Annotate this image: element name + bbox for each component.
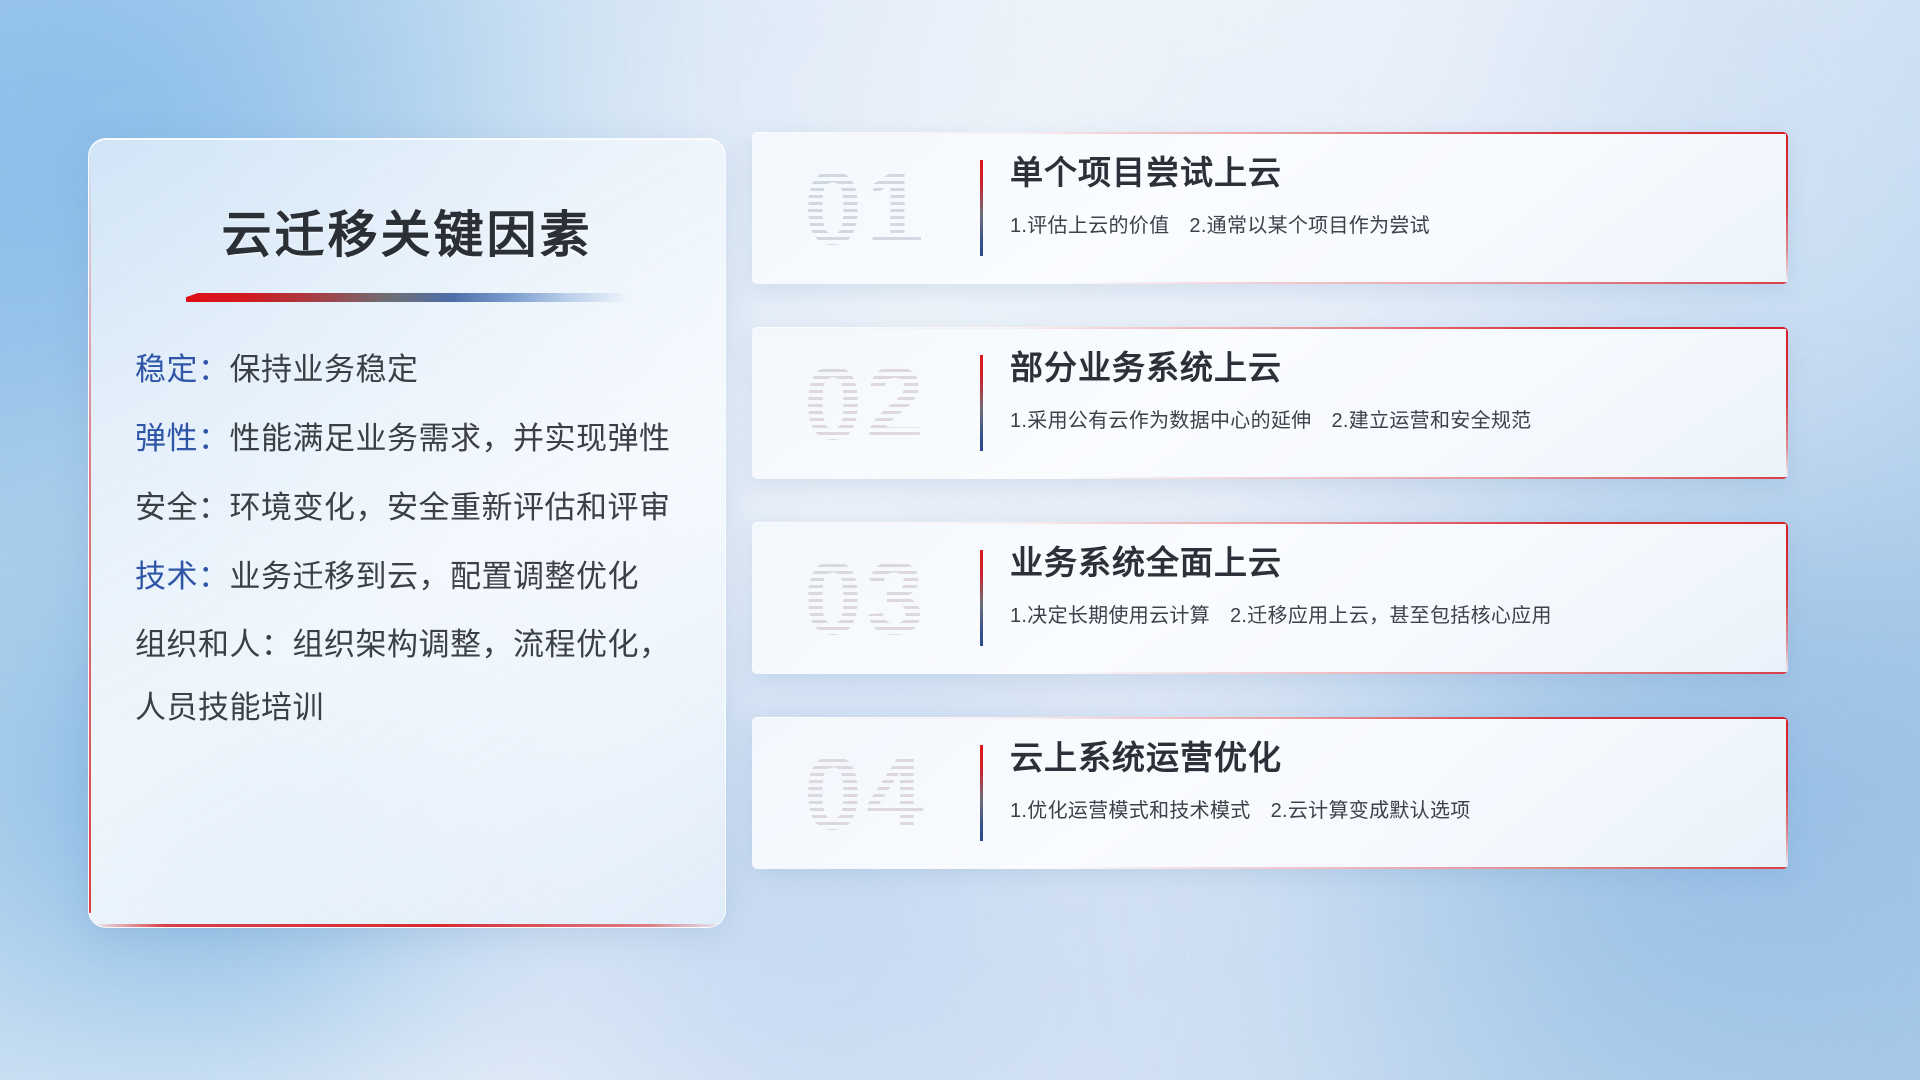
card-index-number: 03 — [780, 536, 952, 662]
card-point: 1.采用公有云作为数据中心的延伸 — [1010, 410, 1311, 432]
card-edge-top — [752, 327, 1788, 329]
card-divider-bar — [980, 745, 983, 841]
card-body: 部分业务系统上云 1.采用公有云作为数据中心的延伸2.建立运营和安全规范 — [1010, 349, 1762, 433]
card-title: 云上系统运营优化 — [1010, 739, 1762, 778]
factor-text: 性能满足业务需求，并实现弹性 — [230, 421, 671, 456]
stage-card[interactable]: 04 云上系统运营优化 1.优化运营模式和技术模式2.云计算变成默认选项 — [752, 717, 1788, 869]
card-subtitle: 1.优化运营模式和技术模式2.云计算变成默认选项 — [1010, 794, 1762, 823]
stage-card-list: 01 单个项目尝试上云 1.评估上云的价值2.通常以某个项目作为尝试 02 部分… — [752, 132, 1788, 869]
key-factors-panel: 云迁移关键因素 稳定：保持业务稳定 弹性：性能满足业务需求，并实现弹性 安全：环… — [88, 138, 726, 928]
list-item: 组织和人：组织架构调整，流程优化， — [135, 629, 695, 662]
card-point: 1.评估上云的价值 — [1010, 215, 1169, 237]
factor-text: 环境变化，安全重新评估和评审 — [230, 490, 671, 525]
list-item-continuation: 人员技能培训 — [135, 692, 695, 725]
card-point: 2.建立运营和安全规范 — [1331, 410, 1531, 432]
card-point: 1.决定长期使用云计算 — [1010, 605, 1210, 627]
list-item: 安全：环境变化，安全重新评估和评审 — [135, 492, 695, 525]
card-divider-bar — [980, 160, 983, 256]
factor-label: 组织和人： — [135, 627, 293, 662]
card-index-number: 02 — [780, 341, 952, 467]
card-title: 业务系统全面上云 — [1010, 544, 1762, 583]
card-edge-top — [752, 132, 1788, 134]
card-point: 2.云计算变成默认选项 — [1271, 800, 1471, 822]
card-divider-bar — [980, 355, 983, 451]
card-edge-bottom — [1063, 477, 1788, 479]
factor-label: 安全： — [135, 490, 230, 525]
card-body: 业务系统全面上云 1.决定长期使用云计算2.迁移应用上云，甚至包括核心应用 — [1010, 544, 1762, 628]
card-body: 单个项目尝试上云 1.评估上云的价值2.通常以某个项目作为尝试 — [1010, 154, 1762, 238]
factor-label: 稳定： — [135, 352, 230, 387]
stage-card[interactable]: 02 部分业务系统上云 1.采用公有云作为数据中心的延伸2.建立运营和安全规范 — [752, 327, 1788, 479]
title-accent-rule — [186, 293, 628, 302]
card-title: 部分业务系统上云 — [1010, 349, 1762, 388]
card-subtitle: 1.评估上云的价值2.通常以某个项目作为尝试 — [1010, 209, 1762, 238]
title-accent-bar — [186, 293, 628, 302]
factor-label: 弹性： — [135, 421, 230, 456]
card-edge-bottom — [1063, 867, 1788, 869]
list-item: 弹性：性能满足业务需求，并实现弹性 — [135, 423, 695, 456]
card-divider-bar — [980, 550, 983, 646]
factor-label: 技术： — [135, 559, 230, 594]
card-title: 单个项目尝试上云 — [1010, 154, 1762, 193]
factor-text: 组织架构调整，流程优化， — [293, 627, 671, 662]
factor-text-continuation: 人员技能培训 — [135, 690, 324, 725]
list-item: 技术：业务迁移到云，配置调整优化 — [135, 561, 695, 594]
card-edge-right — [1786, 327, 1788, 479]
card-edge-bottom — [1063, 672, 1788, 674]
factor-list: 稳定：保持业务稳定 弹性：性能满足业务需求，并实现弹性 安全：环境变化，安全重新… — [89, 354, 725, 725]
card-point: 1.优化运营模式和技术模式 — [1010, 800, 1251, 822]
card-index-number: 04 — [780, 731, 952, 857]
card-edge-right — [1786, 522, 1788, 674]
page-title: 云迁移关键因素 — [89, 195, 725, 267]
card-edge-top — [752, 522, 1788, 524]
slide-stage: 云迁移关键因素 稳定：保持业务稳定 弹性：性能满足业务需求，并实现弹性 安全：环… — [0, 0, 1920, 1080]
card-subtitle: 1.决定长期使用云计算2.迁移应用上云，甚至包括核心应用 — [1010, 599, 1762, 628]
factor-text: 保持业务稳定 — [230, 352, 419, 387]
card-edge-right — [1786, 132, 1788, 284]
card-edge-top — [752, 717, 1788, 719]
stage-card[interactable]: 03 业务系统全面上云 1.决定长期使用云计算2.迁移应用上云，甚至包括核心应用 — [752, 522, 1788, 674]
card-edge-right — [1786, 717, 1788, 869]
card-edge-bottom — [1063, 282, 1788, 284]
card-point: 2.迁移应用上云，甚至包括核心应用 — [1230, 605, 1552, 627]
list-item: 稳定：保持业务稳定 — [135, 354, 695, 387]
card-subtitle: 1.采用公有云作为数据中心的延伸2.建立运营和安全规范 — [1010, 404, 1762, 433]
card-point: 2.通常以某个项目作为尝试 — [1189, 215, 1430, 237]
card-body: 云上系统运营优化 1.优化运营模式和技术模式2.云计算变成默认选项 — [1010, 739, 1762, 823]
card-index-number: 01 — [780, 146, 952, 272]
stage-card[interactable]: 01 单个项目尝试上云 1.评估上云的价值2.通常以某个项目作为尝试 — [752, 132, 1788, 284]
factor-text: 业务迁移到云，配置调整优化 — [230, 559, 640, 594]
